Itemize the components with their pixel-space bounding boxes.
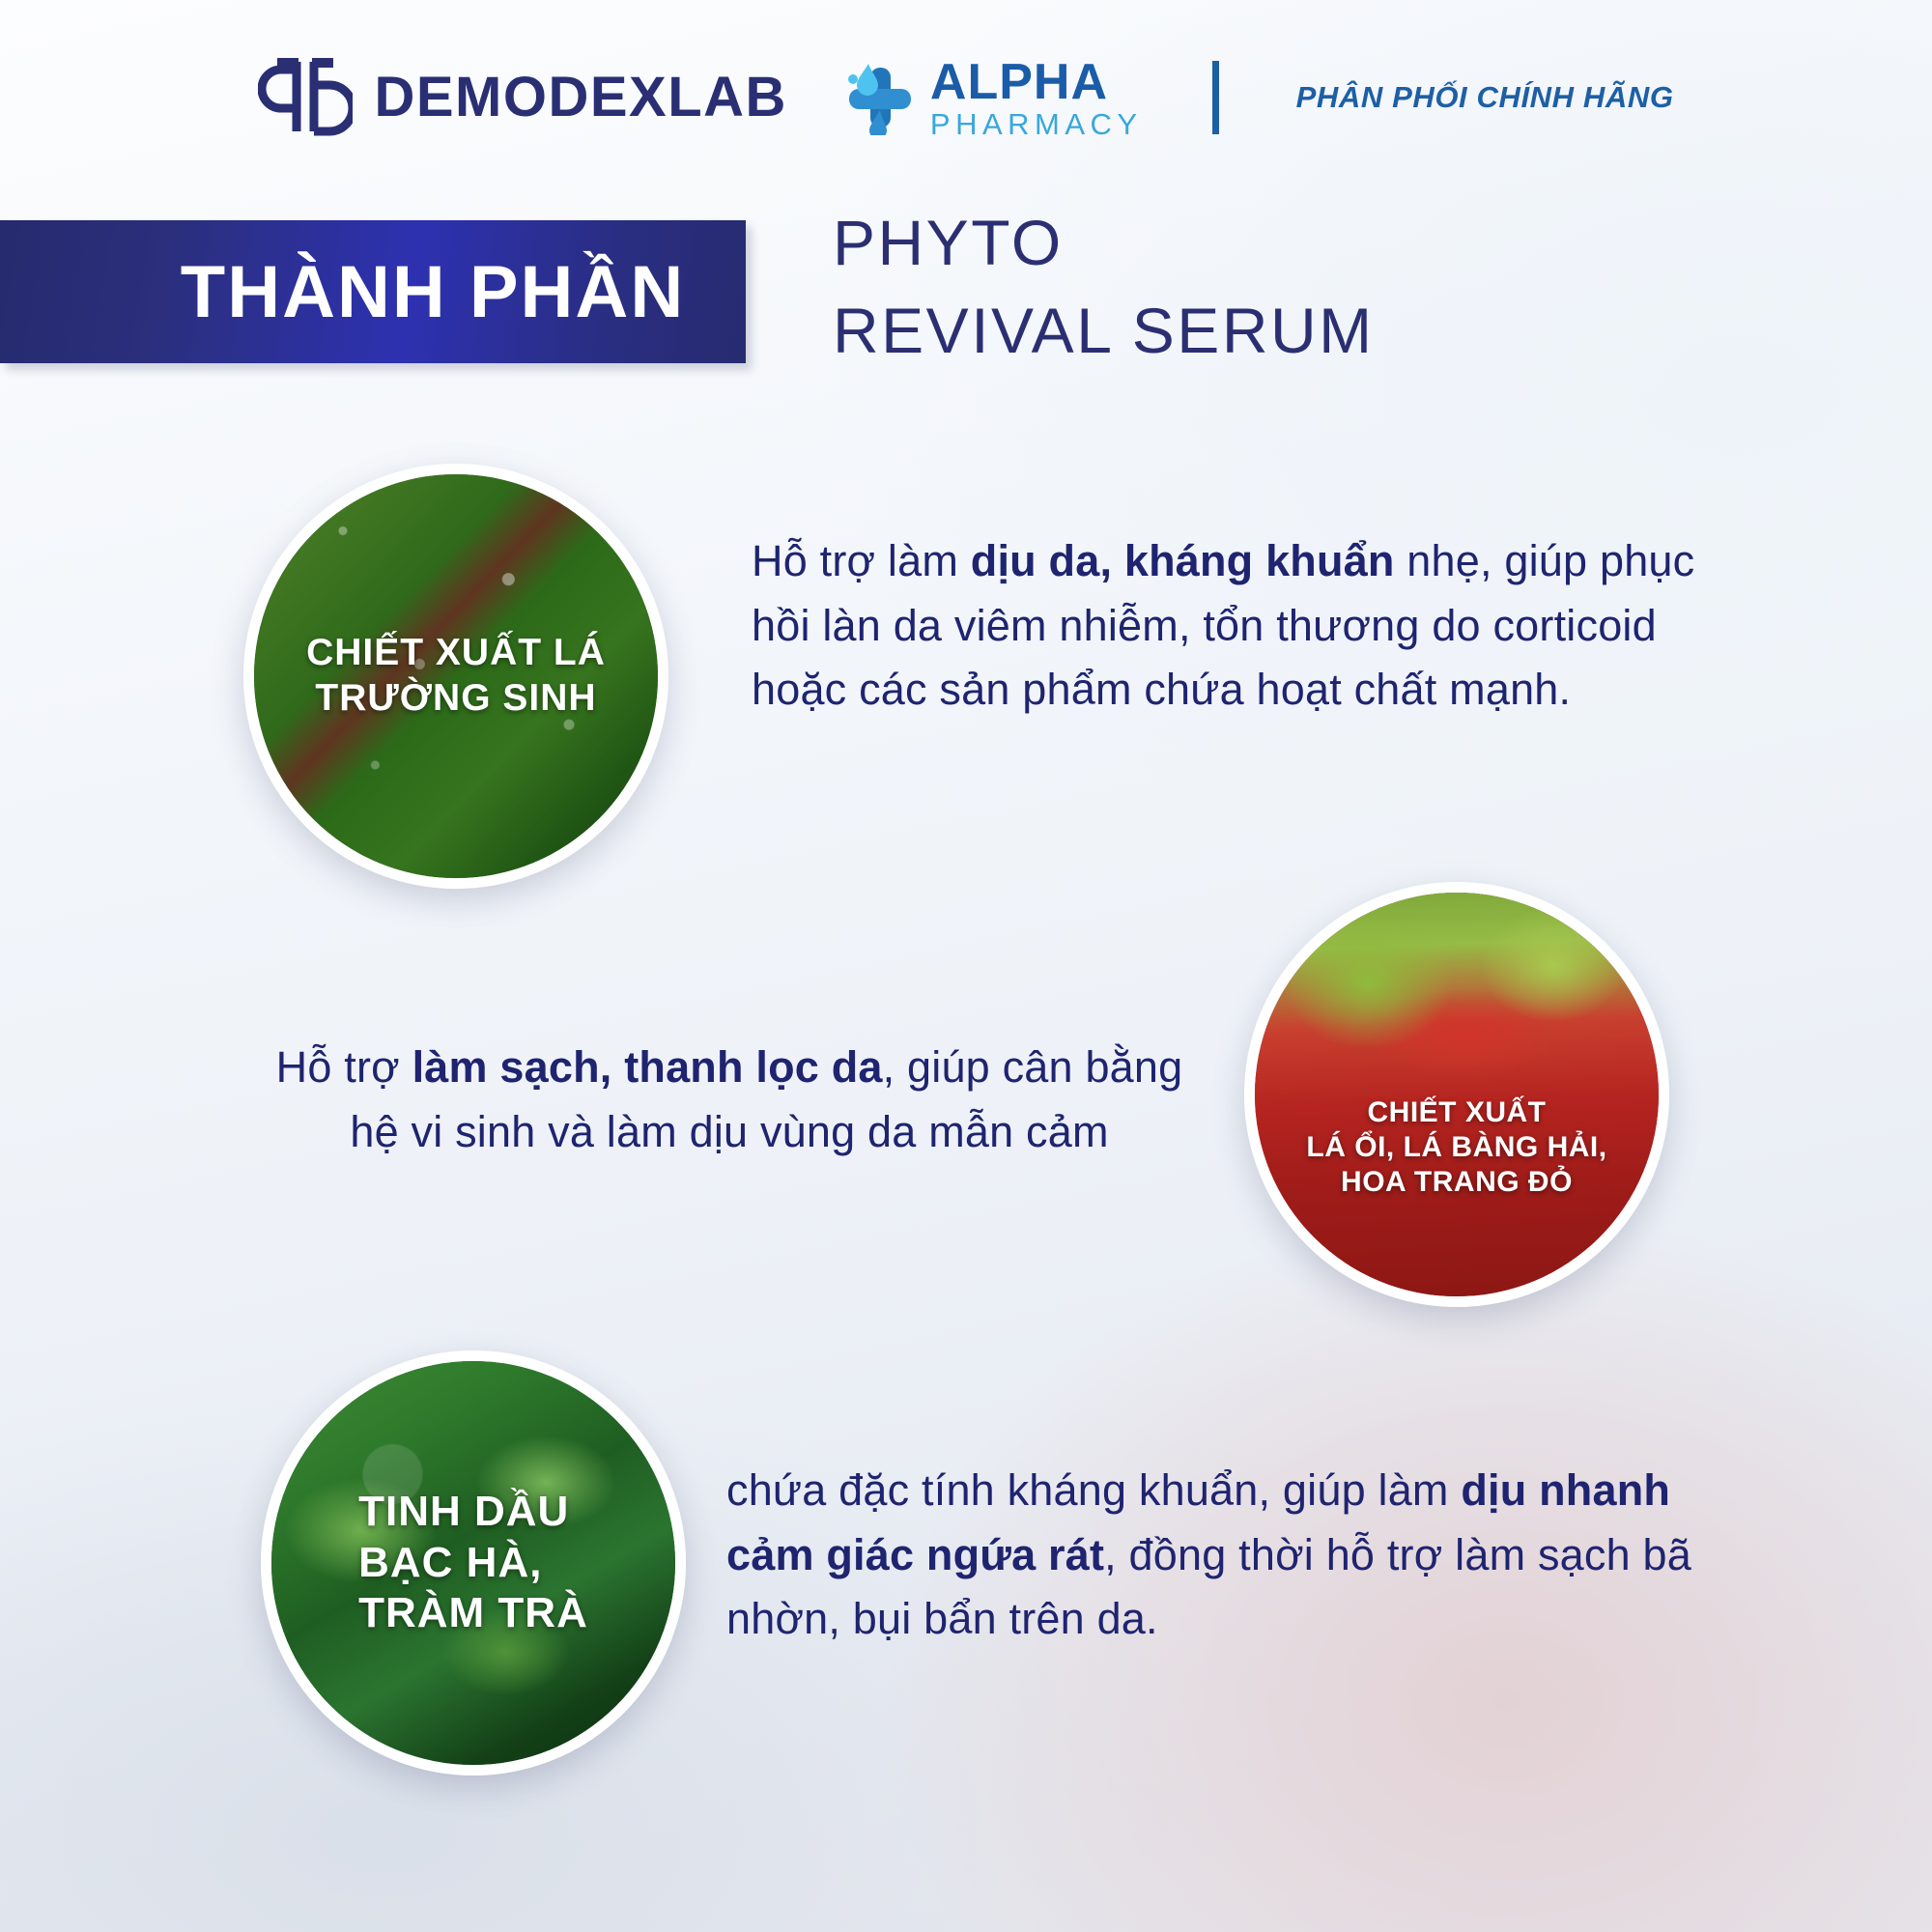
medical-cross-droplet-icon — [843, 60, 917, 135]
section-title-text: THÀNH PHẦN — [36, 250, 710, 334]
section-title-banner: THÀNH PHẦN — [0, 220, 746, 363]
ingredient-caption-3: TINH DẦU BẠC HÀ, TRÀM TRÀ — [347, 1487, 600, 1639]
title-row: THÀNH PHẦN PHYTO REVIVAL SERUM — [0, 220, 1932, 365]
alpha-wordmark: ALPHA PHARMACY — [930, 57, 1143, 139]
ingredient-circle-2: CHIẾT XUẤT LÁ ỔI, LÁ BÀNG HẢI, HOA TRANG… — [1244, 882, 1669, 1307]
body-text: Hỗ trợ — [276, 1042, 412, 1092]
db-monogram-icon — [258, 56, 353, 139]
header-divider — [1212, 61, 1219, 134]
body-text: Hỗ trợ làm — [752, 536, 971, 585]
infographic-page: DEMODEXLAB ALPHA PHARMACY PHÂN PHỐI CHÍN… — [0, 0, 1932, 1932]
emphasis-text: làm sạch, thanh lọc da — [412, 1042, 883, 1092]
ingredient-description-1: Hỗ trợ làm dịu da, kháng khuẩn nhẹ, giúp… — [752, 529, 1718, 723]
ingredient-circle-1: CHIẾT XUẤT LÁ TRƯỜNG SINH — [243, 464, 668, 889]
red-ixora-flower-photo — [1255, 893, 1659, 1296]
product-name-title: PHYTO REVIVAL SERUM — [833, 199, 1375, 375]
alpha-pharmacy-logo: ALPHA PHARMACY — [843, 57, 1143, 139]
ingredient-caption-1: CHIẾT XUẤT LÁ TRƯỜNG SINH — [295, 631, 617, 722]
official-distributor-tagline: PHÂN PHỐI CHÍNH HÃNG — [1296, 78, 1674, 116]
body-text: chứa đặc tính kháng khuẩn, giúp làm — [726, 1465, 1461, 1515]
brand-header: DEMODEXLAB ALPHA PHARMACY PHÂN PHỐI CHÍN… — [0, 44, 1932, 151]
ingredient-caption-2: CHIẾT XUẤT LÁ ỔI, LÁ BÀNG HẢI, HOA TRANG… — [1294, 1095, 1618, 1200]
emphasis-text: dịu da, kháng khuẩn — [971, 536, 1395, 585]
alpha-sub-text: PHARMACY — [930, 109, 1143, 139]
ingredient-description-2: Hỗ trợ làm sạch, thanh lọc da, giúp cân … — [261, 1036, 1198, 1164]
ingredient-description-3: chứa đặc tính kháng khuẩn, giúp làm dịu … — [726, 1459, 1721, 1652]
ingredient-circle-3: TINH DẦU BẠC HÀ, TRÀM TRÀ — [261, 1350, 686, 1776]
demodexlab-logo: DEMODEXLAB — [258, 56, 786, 139]
demodexlab-wordmark: DEMODEXLAB — [374, 70, 786, 126]
alpha-main-text: ALPHA — [930, 57, 1143, 107]
